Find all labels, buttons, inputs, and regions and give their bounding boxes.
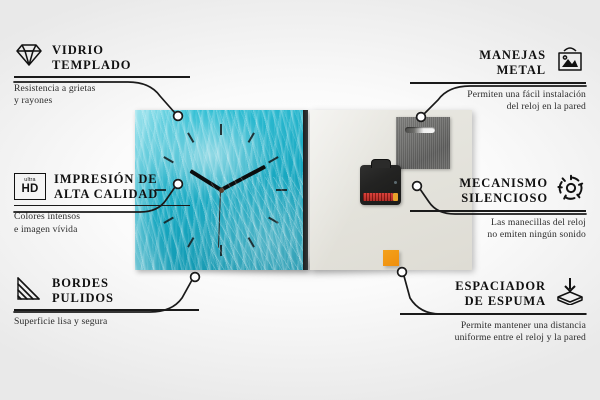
- feature-desc-line2: uniforme entre el reloj y la pared: [400, 332, 586, 345]
- feature-divider: [410, 210, 586, 212]
- feature-desc-line2: no emiten ningún sonido: [410, 229, 586, 242]
- feature-title-line1: MANEJAS: [479, 48, 546, 63]
- mechanism-battery-tip: [393, 193, 398, 201]
- feature-desc-line1: Resistencia a grietas: [14, 83, 190, 96]
- feature-title-line2: METAL: [479, 63, 546, 78]
- feature-title-line1: ESPACIADOR: [455, 279, 546, 294]
- picture-frame-hanger-icon: [554, 46, 586, 79]
- polished-edges-icon: [14, 275, 44, 306]
- clock-second-hand: [218, 190, 221, 248]
- clock-tick: [220, 124, 222, 190]
- feature-title-line1: IMPRESIÓN DE: [54, 172, 158, 187]
- feature-divider: [410, 82, 586, 84]
- feature-divider: [14, 76, 190, 78]
- mechanism-battery: [363, 193, 393, 201]
- feature-divider: [400, 313, 586, 315]
- feature-title-line2: PULIDOS: [52, 291, 114, 306]
- clock-tick: [220, 190, 222, 256]
- infographic-canvas: VIDRIO TEMPLADO Resistencia a grietas y …: [0, 0, 600, 400]
- feature-title-line1: VIDRIO: [52, 43, 131, 58]
- mechanism-hanger-tab: [371, 159, 391, 168]
- clock-tick: [221, 189, 287, 191]
- diamond-icon: [14, 42, 44, 73]
- mechanism-adjust-dial: [394, 181, 397, 184]
- clock-tick: [220, 190, 255, 248]
- feature-desc-line2: e imagen vívida: [14, 224, 190, 237]
- feature-desc-line2: del reloj en la pared: [410, 101, 586, 114]
- hanger-keyhole-slot: [405, 127, 435, 133]
- feature-divider: [14, 205, 190, 207]
- ultra-hd-icon: ultra HD: [14, 173, 46, 200]
- feature-manejas-metal[interactable]: MANEJAS METAL Permiten una fácil instala…: [410, 46, 586, 114]
- foam-spacer-arrow-icon: [554, 277, 586, 310]
- feature-desc-line2: y rayones: [14, 95, 190, 108]
- feature-title-line1: MECANISMO: [459, 176, 548, 191]
- feature-espaciador-espuma[interactable]: ESPACIADOR DE ESPUMA Permite mantener un…: [400, 277, 586, 345]
- feature-bordes-pulidos[interactable]: BORDES PULIDOS Superficie lisa y segura: [14, 275, 199, 328]
- feature-desc-line1: Permite mantener una distancia: [400, 320, 586, 333]
- feature-desc-line1: Las manecillas del reloj: [410, 217, 586, 230]
- metal-hanger-plate: [396, 117, 450, 169]
- clock-center-pivot: [219, 188, 224, 193]
- feature-title-line2: TEMPLADO: [52, 58, 131, 73]
- feature-title-line1: BORDES: [52, 276, 114, 291]
- feature-mecanismo-silencioso[interactable]: MECANISMO SILENCIOSO Las manecillas del …: [410, 174, 586, 242]
- feature-desc-line1: Permiten una fácil instalación: [410, 89, 586, 102]
- feature-title-line2: SILENCIOSO: [459, 191, 548, 206]
- feature-title-line2: DE ESPUMA: [455, 294, 546, 309]
- feature-title-line2: ALTA CALIDAD: [54, 187, 158, 202]
- clock-tick: [220, 132, 255, 190]
- feature-desc-line1: Colores intensos: [14, 211, 190, 224]
- foam-spacer-pad: [383, 250, 399, 266]
- feature-vidrio-templado[interactable]: VIDRIO TEMPLADO Resistencia a grietas y …: [14, 42, 190, 108]
- clock-tick: [221, 189, 279, 224]
- hd-icon-big-text: HD: [21, 184, 38, 196]
- quartz-mechanism: [360, 165, 401, 205]
- feature-impresion-alta-calidad[interactable]: ultra HD IMPRESIÓN DE ALTA CALIDAD Color…: [14, 172, 190, 236]
- feature-divider: [14, 309, 199, 311]
- gear-icon: [556, 174, 586, 207]
- clock-glass-edge: [303, 110, 308, 270]
- feature-desc-line1: Superficie lisa y segura: [14, 316, 199, 329]
